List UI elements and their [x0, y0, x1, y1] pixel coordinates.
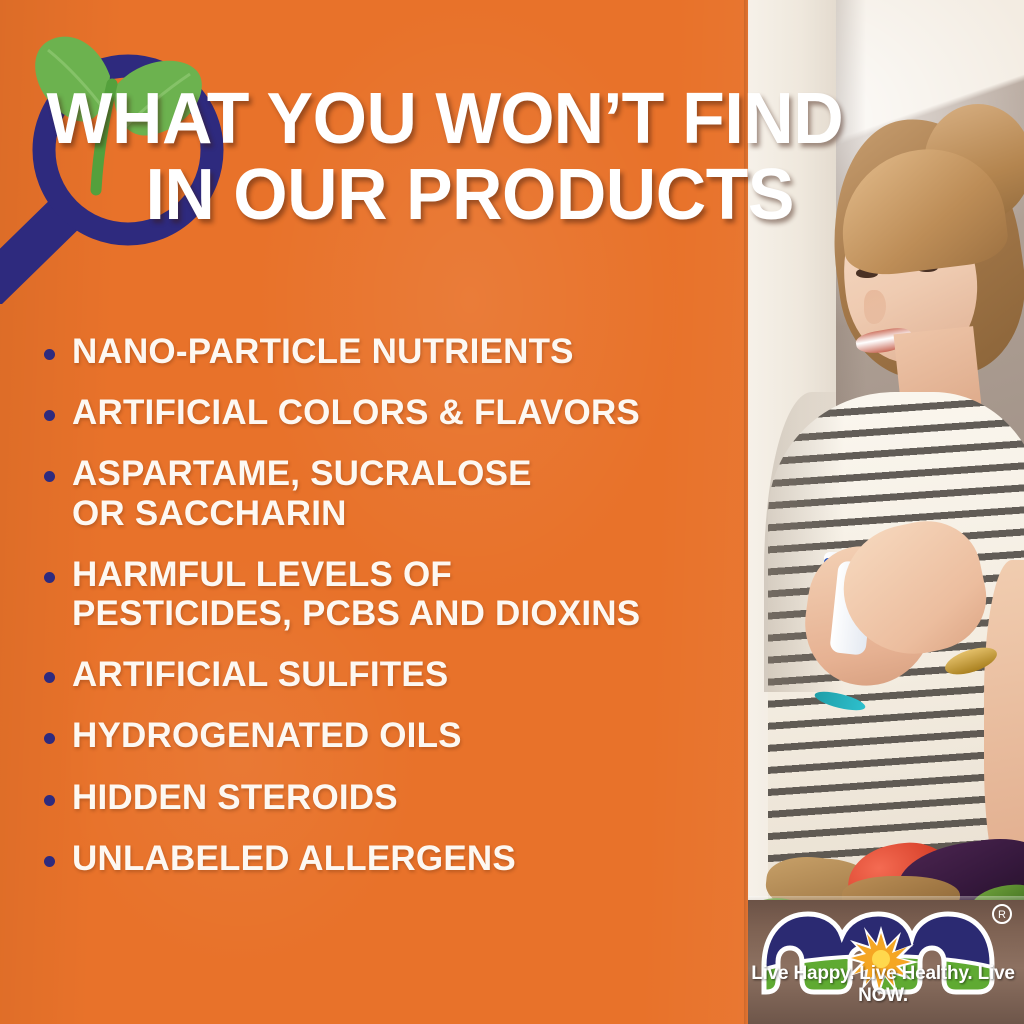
list-item-label: ASPARTAME, SUCRALOSE OR SACCHARIN — [72, 454, 532, 532]
bullet-dot-icon — [44, 572, 55, 583]
list-item: ARTIFICIAL SULFITES — [44, 655, 744, 694]
bullet-dot-icon — [44, 410, 55, 421]
headline-line-1-post: FIND — [663, 79, 843, 159]
bullet-dot-icon — [44, 795, 55, 806]
bullet-dot-icon — [44, 733, 55, 744]
list-item: HYDROGENATED OILS — [44, 716, 744, 755]
brand-tagline: Live Happy. Live Healthy. Live NOW. — [750, 963, 1016, 1007]
list-item: ASPARTAME, SUCRALOSE OR SACCHARIN — [44, 454, 744, 532]
bullet-dot-icon — [44, 672, 55, 683]
list-item-label: HYDROGENATED OILS — [72, 716, 462, 755]
headline-line-1: WHAT YOU WON’T FIND — [0, 86, 970, 152]
promo-poster: WHAT YOU WON’T FIND IN OUR PRODUCTS NANO… — [0, 0, 1024, 1024]
list-item-label: HIDDEN STEROIDS — [72, 778, 398, 817]
list-item: HARMFUL LEVELS OF PESTICIDES, PCBS AND D… — [44, 555, 744, 633]
headline: WHAT YOU WON’T FIND IN OUR PRODUCTS — [0, 86, 1000, 228]
list-item: ARTIFICIAL COLORS & FLAVORS — [44, 393, 744, 432]
bullet-dot-icon — [44, 856, 55, 867]
list-item: NANO-PARTICLE NUTRIENTS — [44, 332, 744, 371]
headline-line-1-pre: WHAT YOU — [47, 79, 436, 159]
svg-text:R: R — [998, 909, 1006, 921]
headline-line-2: IN OUR PRODUCTS — [0, 162, 970, 228]
list-item: HIDDEN STEROIDS — [44, 778, 744, 817]
bullet-dot-icon — [44, 471, 55, 482]
list-item-label: ARTIFICIAL COLORS & FLAVORS — [72, 393, 640, 432]
exclusions-list: NANO-PARTICLE NUTRIENTS ARTIFICIAL COLOR… — [44, 332, 744, 900]
list-item-label: ARTIFICIAL SULFITES — [72, 655, 448, 694]
list-item-label: UNLABELED ALLERGENS — [72, 839, 516, 878]
list-item-label: NANO-PARTICLE NUTRIENTS — [72, 332, 574, 371]
list-item: UNLABELED ALLERGENS — [44, 839, 744, 878]
registered-trademark-icon: R — [993, 905, 1011, 923]
headline-emphasis-wont: WON’T — [435, 79, 663, 159]
bullet-dot-icon — [44, 349, 55, 360]
list-item-label: HARMFUL LEVELS OF PESTICIDES, PCBS AND D… — [72, 555, 640, 633]
